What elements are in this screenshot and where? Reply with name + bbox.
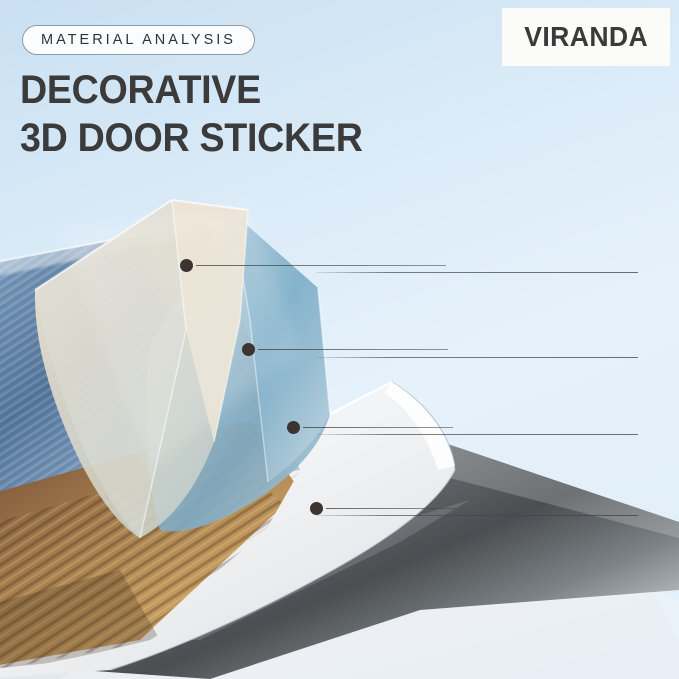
leader-dot-icon: [287, 421, 300, 434]
leader-line: [326, 508, 456, 509]
leader-line: [258, 349, 448, 350]
leader-dot-icon: [180, 259, 193, 272]
page-title: DECORATIVE 3D DOOR STICKER: [20, 66, 363, 162]
leader-dot-icon: [242, 343, 255, 356]
title-line-2: 3D DOOR STICKER: [20, 114, 363, 162]
poster-canvas: MATERIAL ANALYSIS DECORATIVE 3D DOOR STI…: [0, 0, 679, 679]
title-line-1: DECORATIVE: [20, 68, 261, 112]
brand-logo: VIRANDA: [502, 8, 670, 66]
brand-name: VIRANDA: [524, 21, 648, 53]
callout-underline: [316, 357, 638, 358]
leader-dot-icon: [310, 502, 323, 515]
eyebrow-label: MATERIAL ANALYSIS: [41, 32, 236, 48]
callout-underline: [316, 515, 638, 516]
eyebrow-badge: MATERIAL ANALYSIS: [22, 25, 255, 55]
product-illustration: [0, 170, 679, 679]
callout-underline: [316, 272, 638, 273]
leader-line: [196, 265, 446, 266]
callout-underline: [316, 434, 638, 435]
leader-line: [303, 427, 453, 428]
